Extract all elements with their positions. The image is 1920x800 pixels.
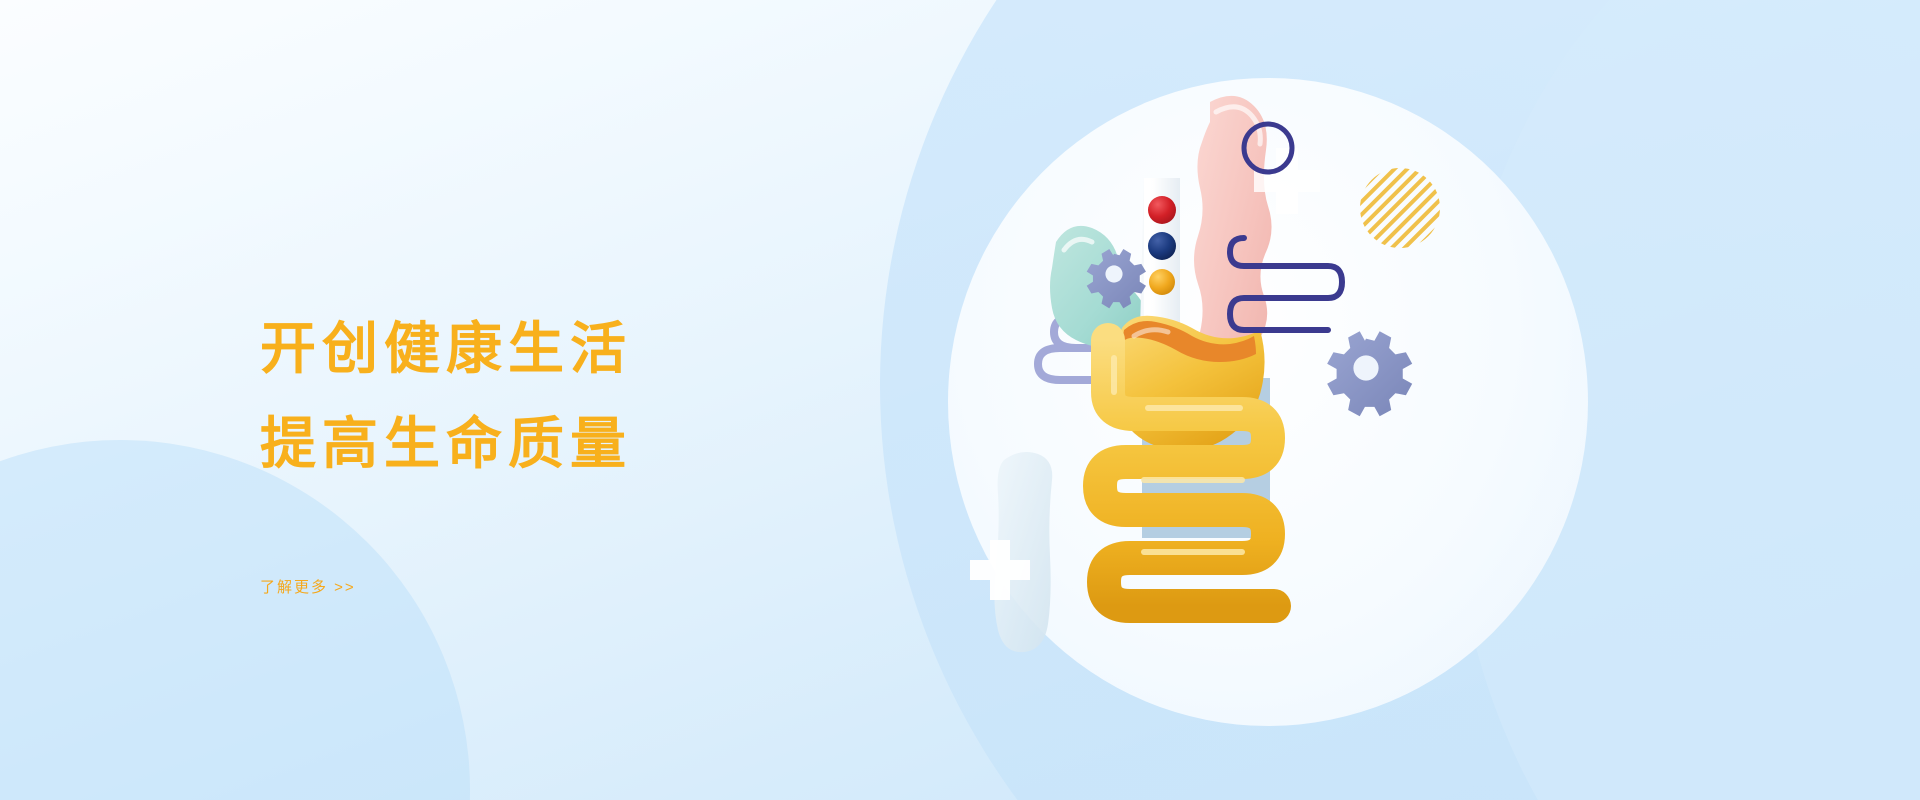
- pill-yellow: [1149, 269, 1175, 295]
- banner-copy: 开创健康生活 提高生命质量 了解更多 >>: [260, 306, 880, 597]
- headline-line-2: 提高生命质量: [260, 401, 880, 488]
- pill-red: [1148, 196, 1176, 224]
- health-banner: 开创健康生活 提高生命质量 了解更多 >>: [0, 0, 1920, 800]
- headline-line-1: 开创健康生活: [260, 306, 880, 393]
- pill-navy: [1148, 232, 1176, 260]
- digestive-system-illustration: [948, 78, 1588, 726]
- striped-circle-icon: [1360, 168, 1440, 248]
- learn-more-link[interactable]: 了解更多 >>: [260, 576, 356, 597]
- gear-large-icon: [1327, 331, 1412, 416]
